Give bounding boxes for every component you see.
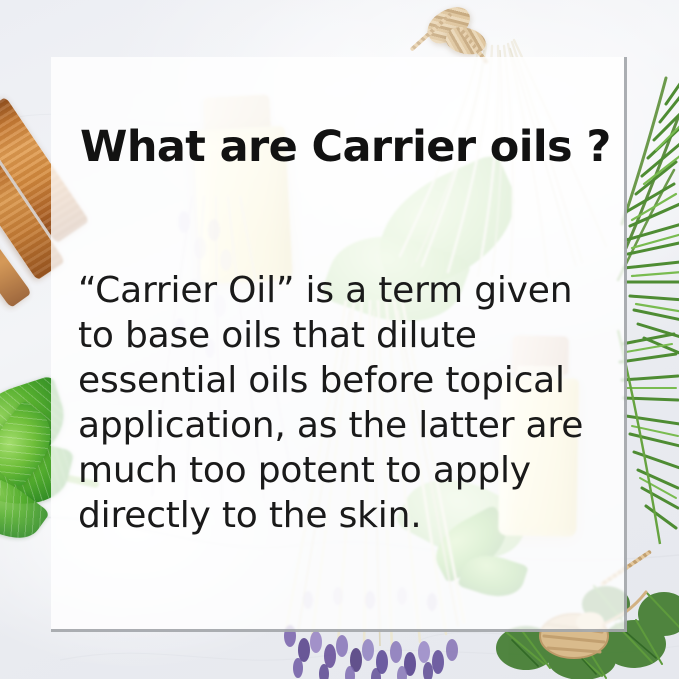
body-line: to base oils that dilute [78, 313, 618, 358]
text-layer: What are Carrier oils ? “Carrier Oil” is… [0, 0, 679, 679]
infographic-card: What are Carrier oils ? “Carrier Oil” is… [0, 0, 679, 679]
body-line: directly to the skin. [78, 493, 618, 538]
page-title: What are Carrier oils ? [80, 126, 611, 169]
body-line: “Carrier Oil” is a term given [78, 268, 618, 313]
body-paragraph: “Carrier Oil” is a term given to base oi… [78, 268, 618, 538]
body-line: application, as the latter are [78, 403, 618, 448]
body-line: much too potent to apply [78, 448, 618, 493]
body-line: essential oils before topical [78, 358, 618, 403]
